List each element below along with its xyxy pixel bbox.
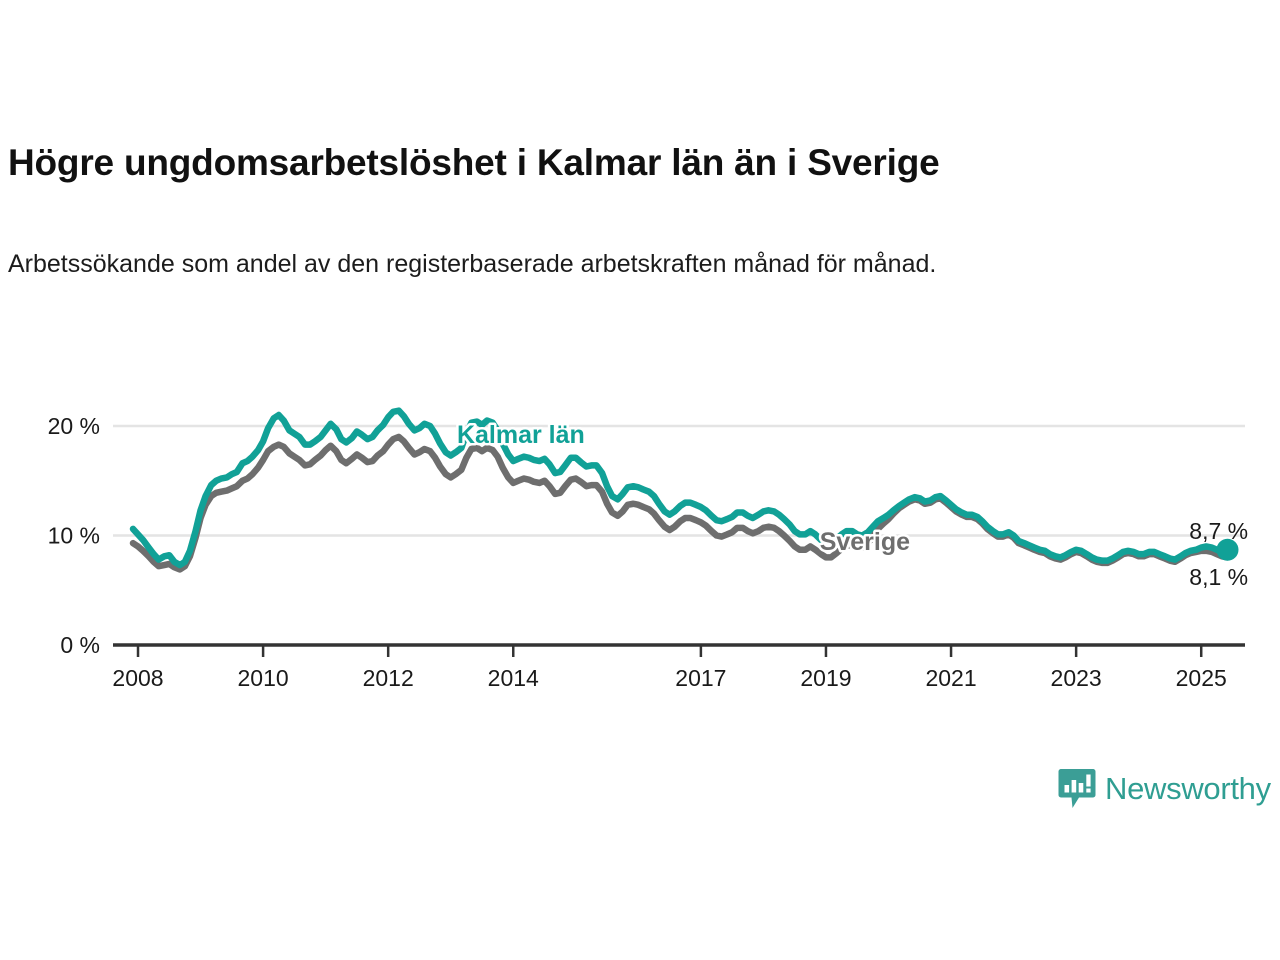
x-axis-ticks — [138, 645, 1201, 657]
series-lines — [133, 411, 1227, 570]
x-axis-tick-label: 2012 — [363, 665, 414, 691]
y-axis-tick-label: 0 % — [60, 632, 100, 658]
x-axis-tick-label: 2019 — [800, 665, 851, 691]
chart-svg: 0 %10 %20 % 2008201020122014201720192021… — [0, 0, 1280, 960]
x-axis-labels: 200820102012201420172019202120232025 — [112, 665, 1226, 691]
sverige-inline-label: Sverige — [820, 528, 910, 556]
x-axis-tick-label: 2021 — [925, 665, 976, 691]
newsworthy-wordmark: Newsworthy — [1105, 771, 1271, 807]
chart-annotations: Kalmar länSverige8,7 %8,1 % — [457, 421, 1248, 590]
x-axis-tick-label: 2025 — [1176, 665, 1227, 691]
kalmar-end-value: 8,7 % — [1189, 518, 1248, 544]
x-axis-tick-label: 2010 — [238, 665, 289, 691]
sverige-end-value: 8,1 % — [1189, 564, 1248, 590]
series-line-kalmar-l-n — [133, 411, 1227, 565]
bar-chart-speech-bubble-icon — [1058, 768, 1096, 810]
y-axis-labels: 0 %10 %20 % — [48, 413, 100, 658]
x-axis-tick-label: 2023 — [1051, 665, 1102, 691]
x-axis-tick-label: 2008 — [112, 665, 163, 691]
line-chart: 0 %10 %20 % 2008201020122014201720192021… — [0, 0, 1280, 960]
y-axis-tick-label: 10 % — [48, 523, 100, 549]
newsworthy-logo[interactable]: Newsworthy — [1058, 768, 1271, 810]
kalmar-inline-label: Kalmar län — [457, 421, 585, 449]
x-axis-tick-label: 2014 — [488, 665, 539, 691]
chart-page: Högre ungdomsarbetslöshet i Kalmar län ä… — [0, 0, 1280, 960]
y-axis-tick-label: 20 % — [48, 413, 100, 439]
x-axis-tick-label: 2017 — [675, 665, 726, 691]
